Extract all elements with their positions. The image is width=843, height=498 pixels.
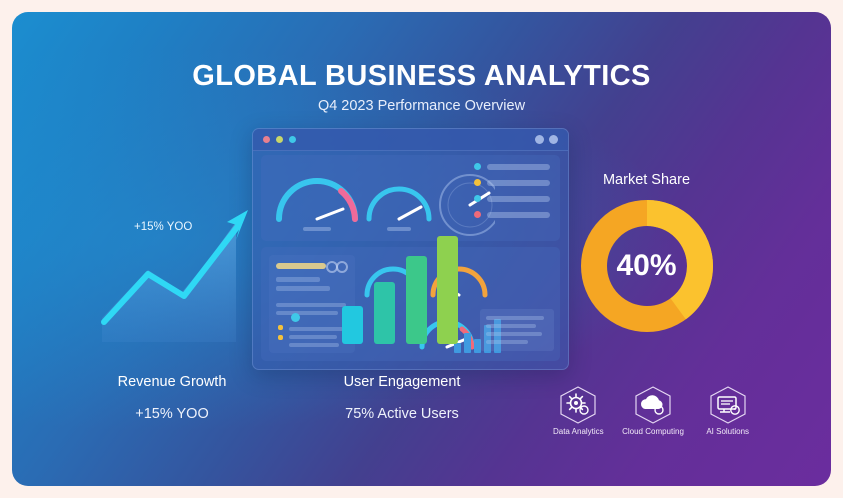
cloud-icon <box>632 385 674 425</box>
legend-item <box>474 195 550 202</box>
legend-dot-red <box>474 211 481 218</box>
stat-key: User Engagement <box>302 374 502 390</box>
legend-dot-cyan-2 <box>474 195 481 202</box>
stat-value: +15% YOO <box>74 406 270 422</box>
info-card-text-line <box>276 311 338 315</box>
window-minimize-dot[interactable] <box>276 136 283 143</box>
info-card-text-line <box>289 335 337 339</box>
window-close-dot[interactable] <box>263 136 270 143</box>
stat-user-engagement: User Engagement 75% Active Users <box>302 374 502 422</box>
gauge-one-needle <box>317 209 343 219</box>
legend-item <box>474 163 550 170</box>
info-card-header-bar <box>276 263 326 269</box>
gauge-one-caption <box>303 227 331 231</box>
bar-q1 <box>342 306 363 344</box>
hex-frame <box>546 384 611 426</box>
info-card-text-line <box>276 303 346 307</box>
legend-bar <box>487 196 550 202</box>
bar-q3 <box>406 256 427 344</box>
status-dot-amber-2 <box>278 335 283 340</box>
titlebar-action-two[interactable] <box>549 135 558 144</box>
monitor-chip-icon <box>707 385 749 425</box>
spark-bar <box>464 333 471 353</box>
market-share-widget: Market Share 40% <box>574 172 719 347</box>
feature-label: AI Solutions <box>695 427 760 436</box>
status-dot-cyan <box>291 313 300 322</box>
bar-q4 <box>437 236 458 344</box>
market-share-donut: 40% <box>577 196 717 336</box>
panel-text-line <box>486 340 528 344</box>
legend-dot-cyan <box>474 163 481 170</box>
page-subtitle: Q4 2023 Performance Overview <box>12 98 831 114</box>
market-share-title: Market Share <box>574 172 719 188</box>
panel-text-line <box>486 324 536 328</box>
spark-bar <box>454 343 461 353</box>
gear-icon <box>557 385 599 425</box>
revenue-growth-chart: +15% YOO <box>96 170 262 350</box>
dashboard-titlebar <box>253 129 568 151</box>
window-maximize-dot[interactable] <box>289 136 296 143</box>
hex-frame <box>621 384 686 426</box>
feature-icon-row: Data Analytics Cloud Computing <box>546 384 760 440</box>
page-title: GLOBAL BUSINESS ANALYTICS <box>12 60 831 93</box>
growth-area-fill <box>102 222 236 342</box>
info-card-text-line <box>289 343 339 347</box>
feature-data-analytics[interactable]: Data Analytics <box>546 384 611 440</box>
stat-key: Revenue Growth <box>74 374 270 390</box>
growth-badge-label: +15% YOO <box>134 221 192 233</box>
info-card-text-line <box>276 286 330 291</box>
status-dot-amber <box>278 325 283 330</box>
feature-ai-solutions[interactable]: AI Solutions <box>695 384 760 440</box>
engagement-bar-chart <box>342 194 458 344</box>
dashboard-legend <box>474 163 550 227</box>
legend-item <box>474 179 550 186</box>
legend-item <box>474 211 550 218</box>
panel-text-line <box>486 332 542 336</box>
bar-q2 <box>374 282 395 344</box>
dashboard-text-panel <box>480 309 554 351</box>
legend-bar <box>487 180 550 186</box>
titlebar-action-one[interactable] <box>535 135 544 144</box>
market-share-value: 40% <box>577 196 717 336</box>
slide-canvas: GLOBAL BUSINESS ANALYTICS Q4 2023 Perfor… <box>0 0 843 498</box>
info-card-text-line <box>289 327 343 331</box>
feature-label: Cloud Computing <box>621 427 686 436</box>
gradient-card: GLOBAL BUSINESS ANALYTICS Q4 2023 Perfor… <box>12 12 831 486</box>
hex-frame <box>695 384 760 426</box>
panel-text-line <box>486 316 544 320</box>
stat-revenue-growth: Revenue Growth +15% YOO <box>74 374 270 422</box>
legend-bar <box>487 212 550 218</box>
growth-area-svg <box>96 170 262 350</box>
stat-value: 75% Active Users <box>302 406 502 422</box>
feature-cloud-computing[interactable]: Cloud Computing <box>621 384 686 440</box>
legend-dot-amber <box>474 179 481 186</box>
info-card-text-line <box>276 277 320 282</box>
legend-bar <box>487 164 550 170</box>
feature-label: Data Analytics <box>546 427 611 436</box>
